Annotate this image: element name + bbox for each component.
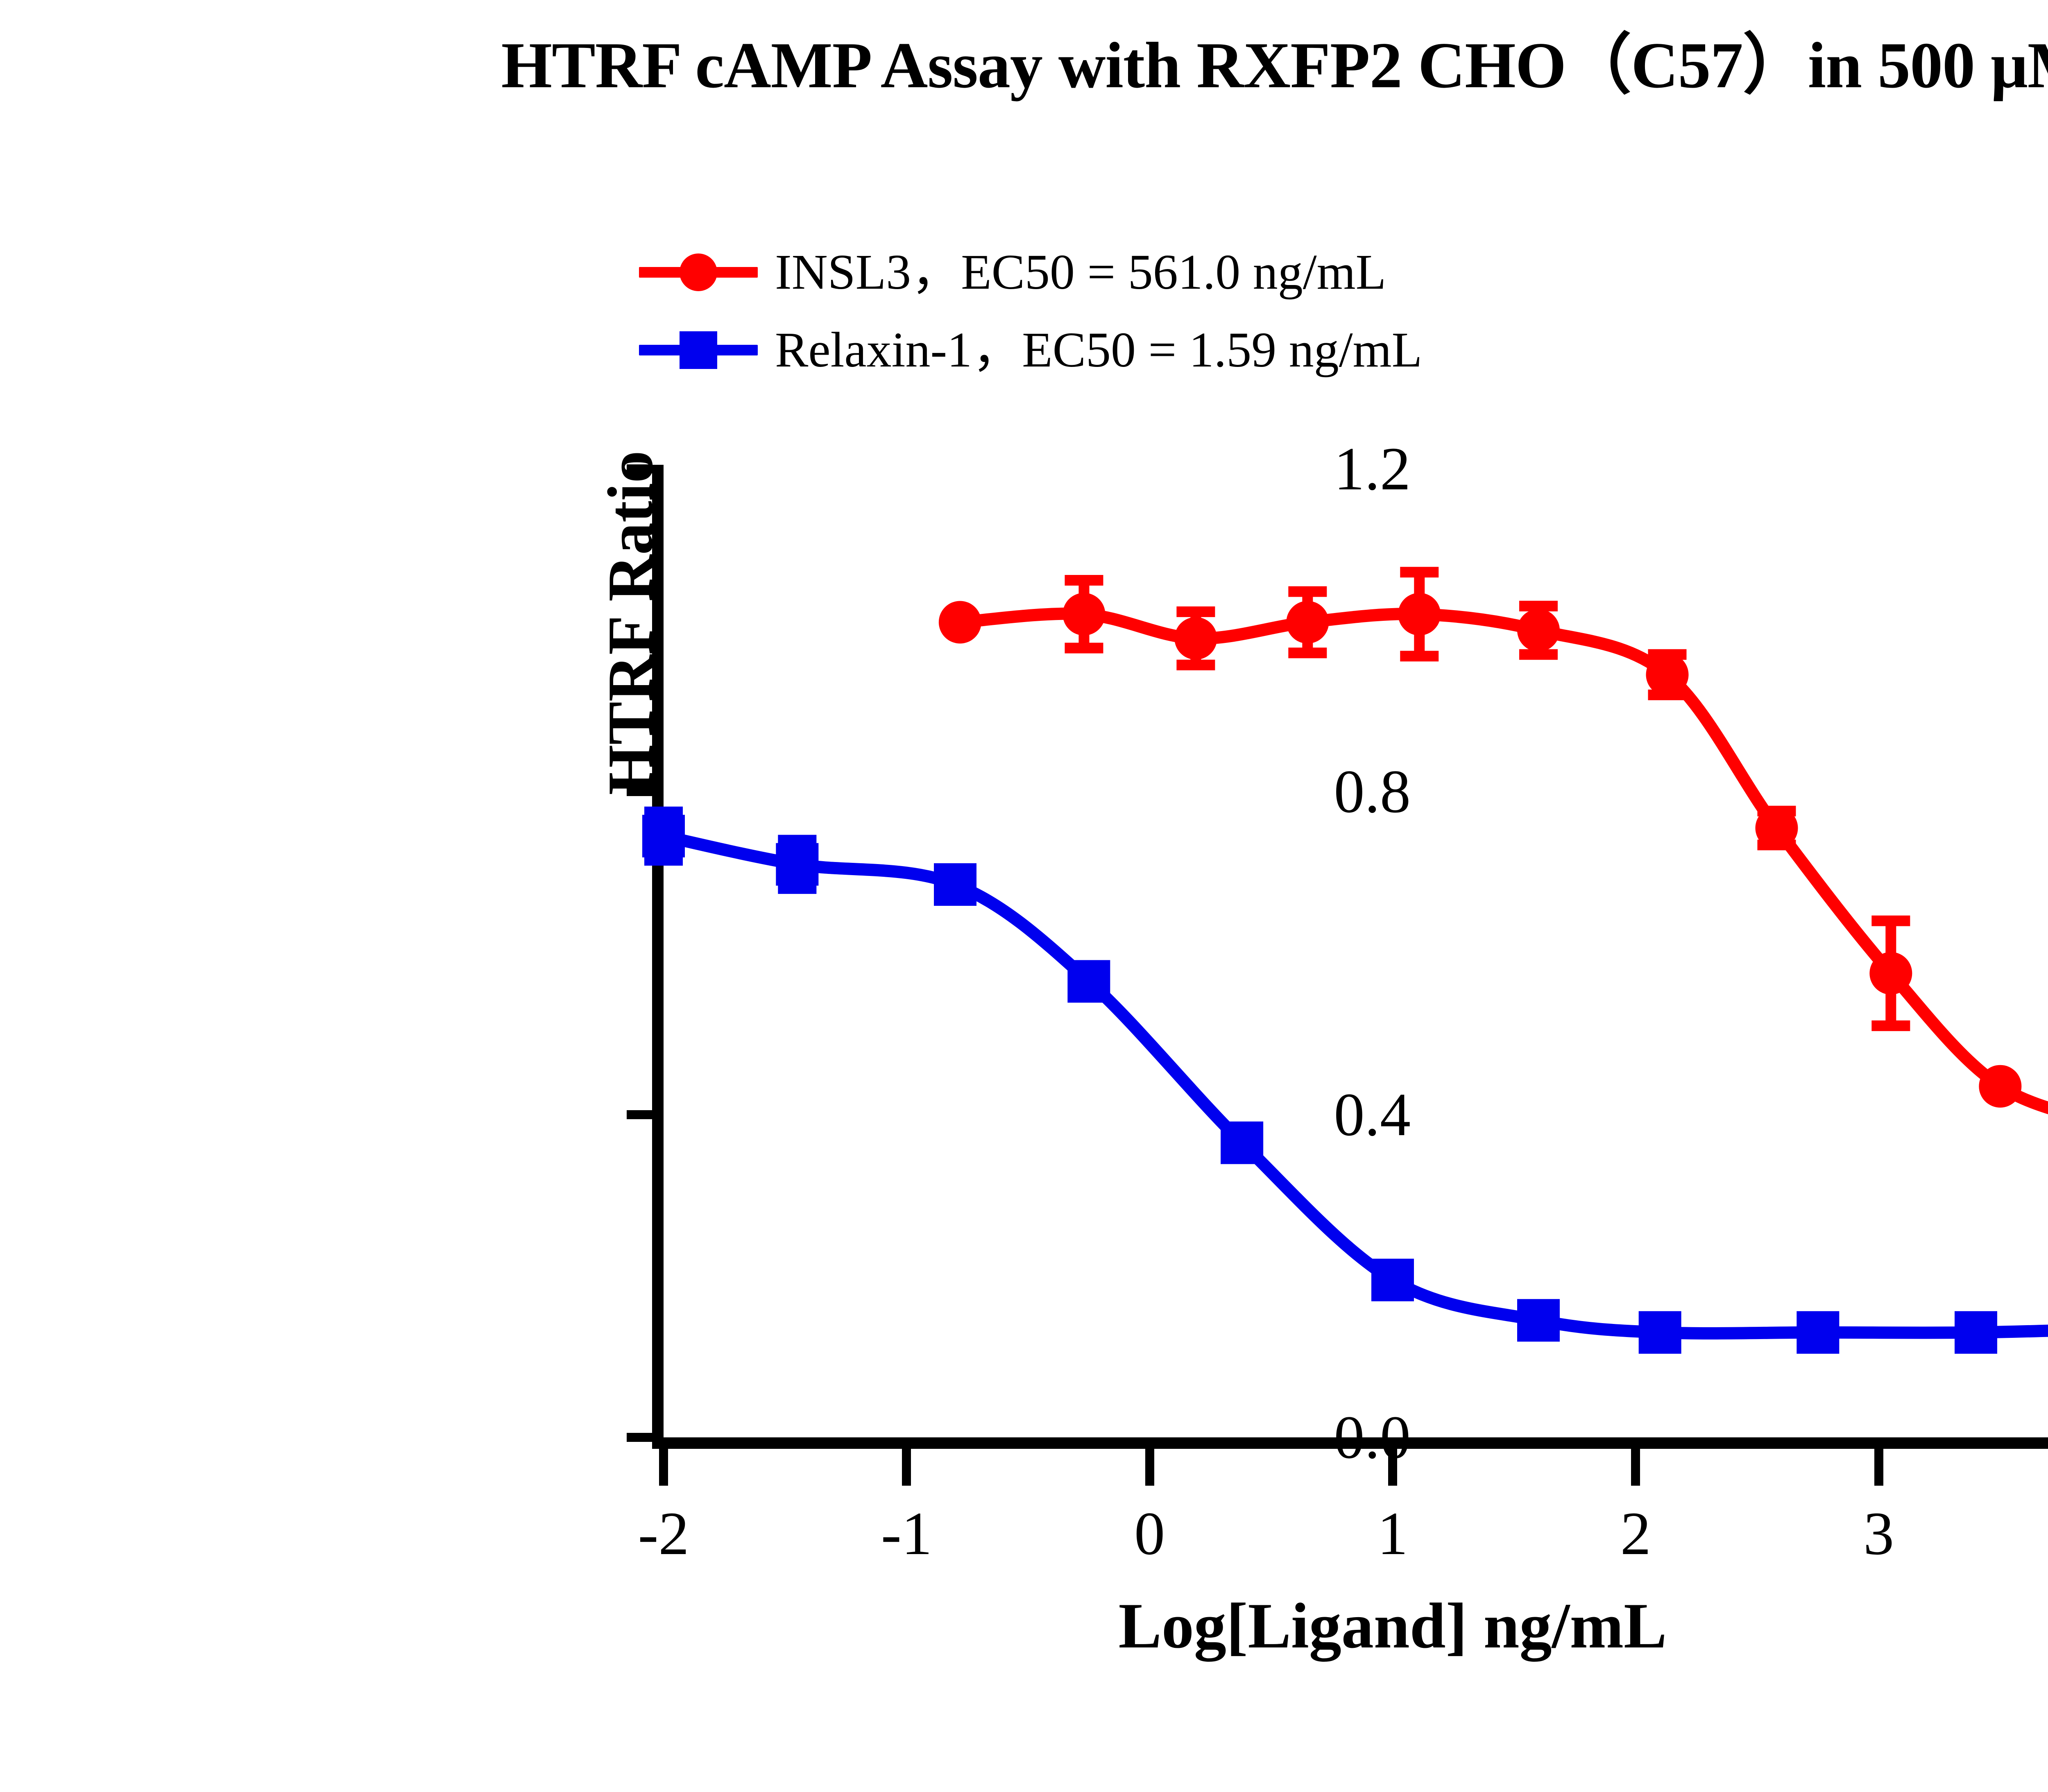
x-tick-label: 3 bbox=[1817, 1503, 1940, 1564]
data-point bbox=[1398, 593, 1441, 636]
x-tick bbox=[1388, 1449, 1397, 1486]
x-tick bbox=[902, 1449, 911, 1486]
chart-legend: INSL3，EC50 = 561.0 ng/mL Relaxin-1，EC50 … bbox=[639, 233, 1422, 389]
legend-label-relaxin1: Relaxin-1，EC50 = 1.59 ng/mL bbox=[758, 325, 1422, 375]
series-insl3 bbox=[939, 572, 2048, 1152]
data-point bbox=[776, 843, 818, 886]
plot-area: 0.00.40.81.2 -2-101234 bbox=[664, 469, 2048, 1437]
y-tick bbox=[627, 1433, 652, 1442]
chart-figure: HTRF cAMP Assay with RXFP2 CHO（C57）in 50… bbox=[0, 0, 2048, 1792]
data-point bbox=[1063, 593, 1105, 636]
x-axis-title: Log[Ligand] ng/mL bbox=[664, 1589, 2048, 1663]
x-tick bbox=[659, 1449, 668, 1486]
x-tick bbox=[1631, 1449, 1640, 1486]
y-axis-line bbox=[652, 465, 664, 1441]
data-point bbox=[1639, 1311, 1681, 1354]
y-tick bbox=[627, 1110, 652, 1119]
data-point bbox=[1797, 1311, 1839, 1354]
data-point bbox=[1979, 1065, 2021, 1108]
x-tick-label: 1 bbox=[1331, 1503, 1454, 1564]
series-relaxin-1 bbox=[642, 812, 2048, 1354]
x-tick-label: -2 bbox=[602, 1503, 725, 1564]
data-point bbox=[939, 601, 981, 643]
x-tick bbox=[1874, 1449, 1883, 1486]
x-tick-label: -1 bbox=[845, 1503, 968, 1564]
y-tick bbox=[627, 787, 652, 796]
data-point bbox=[642, 815, 685, 858]
x-tick-label: 0 bbox=[1088, 1503, 1211, 1564]
legend-marker-insl3 bbox=[639, 258, 758, 287]
data-point bbox=[1869, 952, 1912, 995]
x-tick-label: 2 bbox=[1574, 1503, 1697, 1564]
data-point bbox=[1286, 601, 1329, 643]
y-tick bbox=[627, 464, 652, 473]
data-point bbox=[1221, 1122, 1263, 1164]
x-tick bbox=[1145, 1449, 1154, 1486]
legend-label-insl3: INSL3，EC50 = 561.0 ng/mL bbox=[758, 247, 1386, 297]
data-point bbox=[1067, 960, 1110, 1002]
data-point bbox=[1517, 609, 1560, 652]
data-point bbox=[1371, 1259, 1414, 1301]
data-point bbox=[1646, 654, 1688, 696]
data-point bbox=[934, 863, 976, 906]
legend-entry-insl3: INSL3，EC50 = 561.0 ng/mL bbox=[639, 233, 1422, 311]
data-point bbox=[1517, 1299, 1560, 1342]
series-line bbox=[960, 614, 2048, 1127]
data-layer bbox=[664, 469, 2048, 1437]
data-point bbox=[1955, 1311, 1997, 1354]
data-point bbox=[1755, 807, 1798, 849]
data-point bbox=[1174, 617, 1217, 660]
chart-title: HTRF cAMP Assay with RXFP2 CHO（C57）in 50… bbox=[0, 11, 2048, 106]
legend-entry-relaxin1: Relaxin-1，EC50 = 1.59 ng/mL bbox=[639, 311, 1422, 389]
